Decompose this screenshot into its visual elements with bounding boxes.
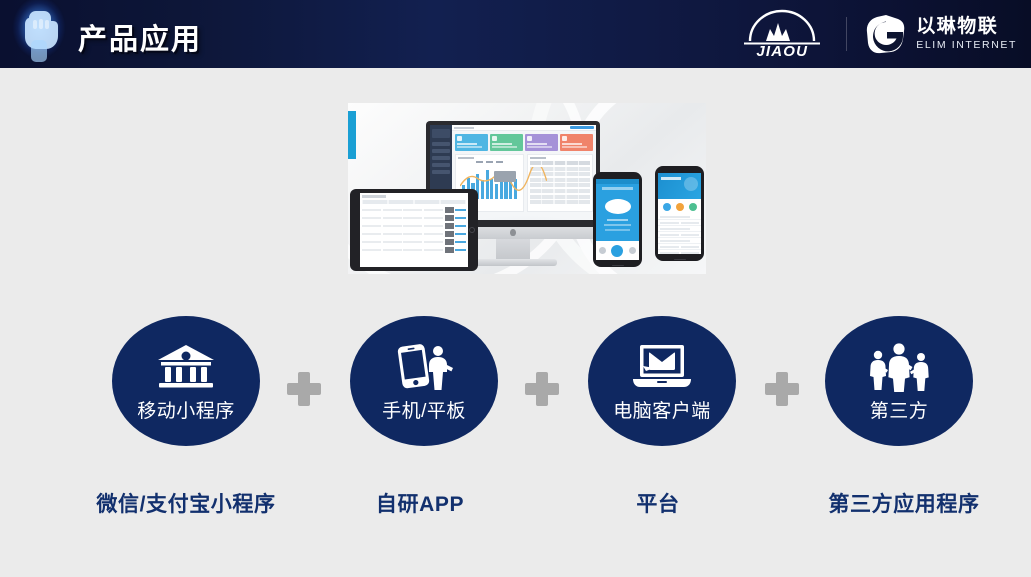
accent-bar [348,111,356,159]
jiaou-sunrise-icon [736,8,828,46]
plus-connector-2 [525,372,559,406]
tablet-device [350,189,478,271]
fist-glyph [16,4,62,64]
fist-icon [6,0,72,68]
plus-connector-1 [287,372,321,406]
node-label: 电脑客户端 [613,396,711,423]
caption-platform: 平台 [528,488,788,518]
phone-person-icon [393,340,455,394]
tablet-screen [360,193,468,267]
bank-building-icon [156,340,216,394]
application-nodes-row: 移动小程序 [0,316,1031,446]
jiaou-wordmark: JIAOU [736,43,828,60]
three-people-icon [865,340,933,394]
phone-left-device [593,172,642,267]
node-mobile-miniprogram[interactable]: 移动小程序 [112,316,260,446]
elim-g-icon [865,13,907,55]
elim-name-en: ELIM INTERNET [916,40,1017,51]
header-logos: JIAOU 以琳物联 ELIM INTERNET [736,0,1017,68]
apple-logo-icon [510,229,516,236]
captions-row: 微信/支付宝小程序 自研APP 平台 第三方应用程序 [0,488,1031,528]
phone-right-device [655,166,704,261]
node-desktop-client[interactable]: 电脑客户端 [588,316,736,446]
node-label: 手机/平板 [382,396,466,423]
caption-third-party-app: 第三方应用程序 [774,488,1031,518]
multi-device-mockup [348,103,706,274]
node-label: 移动小程序 [137,396,235,423]
phone-right-screen [658,173,701,254]
logo-divider [846,17,847,51]
dashboard-stat-cards [455,134,593,151]
plus-connector-3 [765,372,799,406]
jiaou-logo: JIAOU [736,8,828,60]
phone-left-screen [596,179,639,260]
laptop-envelope-icon [629,340,695,394]
slide-product-application: 产品应用 JIAOU 以琳物联 ELIM INTERNET [0,0,1031,577]
node-label: 第三方 [870,396,929,423]
elim-name-cn: 以琳物联 [916,17,1017,36]
page-title: 产品应用 [78,16,202,58]
node-third-party[interactable]: 第三方 [825,316,973,446]
caption-self-developed-app: 自研APP [290,488,550,518]
page-header: 产品应用 JIAOU 以琳物联 ELIM INTERNET [0,0,1031,68]
elim-logo: 以琳物联 ELIM INTERNET [865,13,1017,55]
caption-wechat-alipay: 微信/支付宝小程序 [56,488,316,518]
chart-tooltip [494,171,516,182]
node-phone-tablet[interactable]: 手机/平板 [350,316,498,446]
